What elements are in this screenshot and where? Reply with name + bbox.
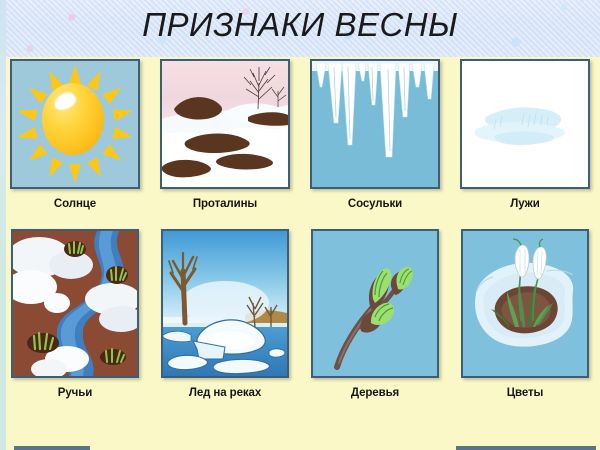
grid-cell-streams[interactable]: Ручьи: [0, 229, 150, 409]
picture-frame-icicles: [310, 59, 440, 189]
next-row-frame-left: [14, 446, 90, 450]
sun-ray: [16, 127, 37, 143]
caption-icicles: Сосульки: [348, 198, 402, 210]
picture-frame-puddles: [460, 59, 590, 189]
picture-frame-budding-branch: [311, 229, 439, 378]
sun-ray: [87, 68, 106, 90]
sun-ray: [113, 127, 134, 143]
sun-ray: [103, 83, 125, 104]
picture-frame-thawed-patches: [160, 59, 290, 189]
sun-ray: [69, 164, 81, 183]
slide: ПРИЗНАКИ ВЕСНЫ Солнце: [0, 0, 600, 450]
picture-frame-streams: [11, 229, 139, 378]
caption-snowdrops: Цветы: [507, 387, 544, 399]
caption-budding-branch: Деревья: [351, 387, 399, 399]
picture-row-2: Ручьи: [0, 229, 600, 409]
icicles-icon: [312, 61, 438, 187]
grid-cell-icicles[interactable]: Сосульки: [300, 59, 450, 224]
budding-branch-icon: [313, 231, 437, 376]
caption-streams: Ручьи: [58, 387, 92, 399]
sun-ray: [25, 144, 47, 165]
sun-ray: [103, 144, 125, 165]
sun-ray: [69, 65, 81, 84]
grass-tuft: [100, 349, 126, 365]
sun-icon: [12, 61, 138, 187]
picture-grid: Солнце: [0, 57, 600, 450]
grass-tuft: [27, 333, 59, 353]
grass-tuft: [106, 266, 128, 284]
grid-cell-puddles[interactable]: Лужи: [450, 59, 600, 224]
sun-ray: [16, 105, 37, 121]
grid-cell-thawed-patches[interactable]: Проталины: [150, 59, 300, 224]
page-title: ПРИЗНАКИ ВЕСНЫ: [0, 3, 600, 47]
picture-row-1: Солнце: [0, 59, 600, 224]
sun-ray: [25, 83, 47, 104]
sun-ray: [44, 157, 63, 179]
caption-puddles: Лужи: [510, 198, 539, 210]
caption-river-ice: Лед на реках: [189, 387, 261, 399]
grid-cell-river-ice[interactable]: Лед на реках: [150, 229, 300, 409]
picture-frame-snowdrops: [461, 229, 589, 378]
caption-sun: Солнце: [54, 198, 96, 210]
grid-cell-budding-branch[interactable]: Деревья: [300, 229, 450, 409]
snowdrops-icon: [463, 231, 587, 376]
grid-cell-snowdrops[interactable]: Цветы: [450, 229, 600, 409]
sun-ray: [113, 105, 134, 121]
grass-tuft: [64, 241, 86, 257]
puddles-icon: [462, 61, 588, 187]
picture-frame-river-ice: [161, 229, 289, 378]
next-row-frame-right: [456, 446, 596, 450]
caption-thawed-patches: Проталины: [193, 198, 257, 210]
bare-tree-icon: [244, 67, 275, 109]
thawed-patches-icon: [162, 61, 288, 187]
river-ice-icon: [163, 231, 287, 376]
grid-cell-sun[interactable]: Солнце: [0, 59, 150, 224]
streams-icon: [13, 231, 137, 376]
picture-frame-sun: [10, 59, 140, 189]
left-edge-strip: [0, 0, 6, 450]
sun-ray: [87, 157, 106, 179]
